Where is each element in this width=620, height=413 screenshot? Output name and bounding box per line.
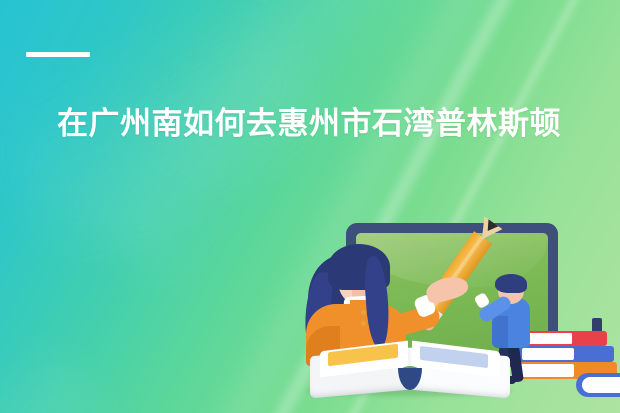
book-orange-pages: [516, 364, 574, 377]
background-light-streak: [0, 330, 120, 413]
illustration: [300, 200, 620, 413]
title-divider: [26, 52, 90, 57]
student-torso-shadow: [492, 316, 508, 348]
page-root: 在广州南如何去惠州市石湾普林斯顿: [0, 0, 620, 413]
page-title: 在广州南如何去惠州市石湾普林斯顿: [57, 104, 597, 144]
book-blue-pages: [522, 348, 574, 360]
teacher-button: [361, 321, 366, 326]
book-red-pages: [528, 333, 572, 344]
student-hair: [495, 274, 527, 293]
search-input[interactable]: [582, 377, 620, 393]
teacher-button: [361, 310, 366, 315]
